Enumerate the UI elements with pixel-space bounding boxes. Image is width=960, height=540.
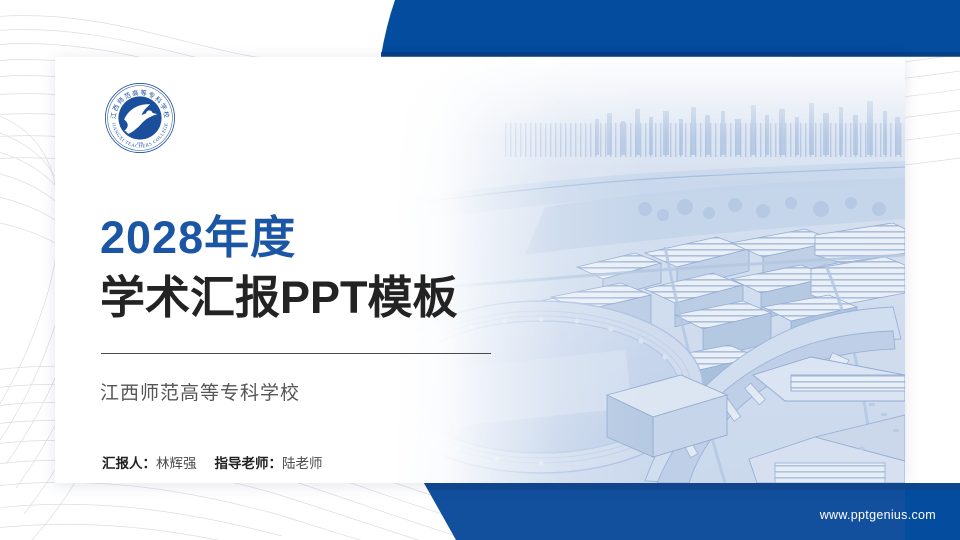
logo-year-text: 1949 [137,141,144,145]
footer-website-url[interactable]: www.pptgenius.com [820,508,936,522]
presentation-slide: 江西师范高等专科学校 JIANGXI TEACHERS COLLEGE 1949… [0,0,960,540]
jiangxi-teachers-college-logo-icon: 江西师范高等专科学校 JIANGXI TEACHERS COLLEGE 1949 [104,82,176,154]
presenter-label: 汇报人： [102,456,156,471]
advisor-value: 陆老师 [282,456,323,471]
title-year: 2028年度 [100,215,296,260]
school-name: 江西师范高等专科学校 [100,378,300,405]
presenter-value: 林辉强 [156,456,197,471]
credits-line: 汇报人：林辉强指导老师：陆老师 [102,452,323,472]
advisor-label: 指导老师： [215,456,283,471]
title-main: 学术汇报PPT模板 [100,275,458,320]
title-divider [101,353,491,354]
slide-card: 江西师范高等专科学校 JIANGXI TEACHERS COLLEGE 1949… [55,57,905,483]
title-content-column: 江西师范高等专科学校 JIANGXI TEACHERS COLLEGE 1949… [100,57,520,483]
